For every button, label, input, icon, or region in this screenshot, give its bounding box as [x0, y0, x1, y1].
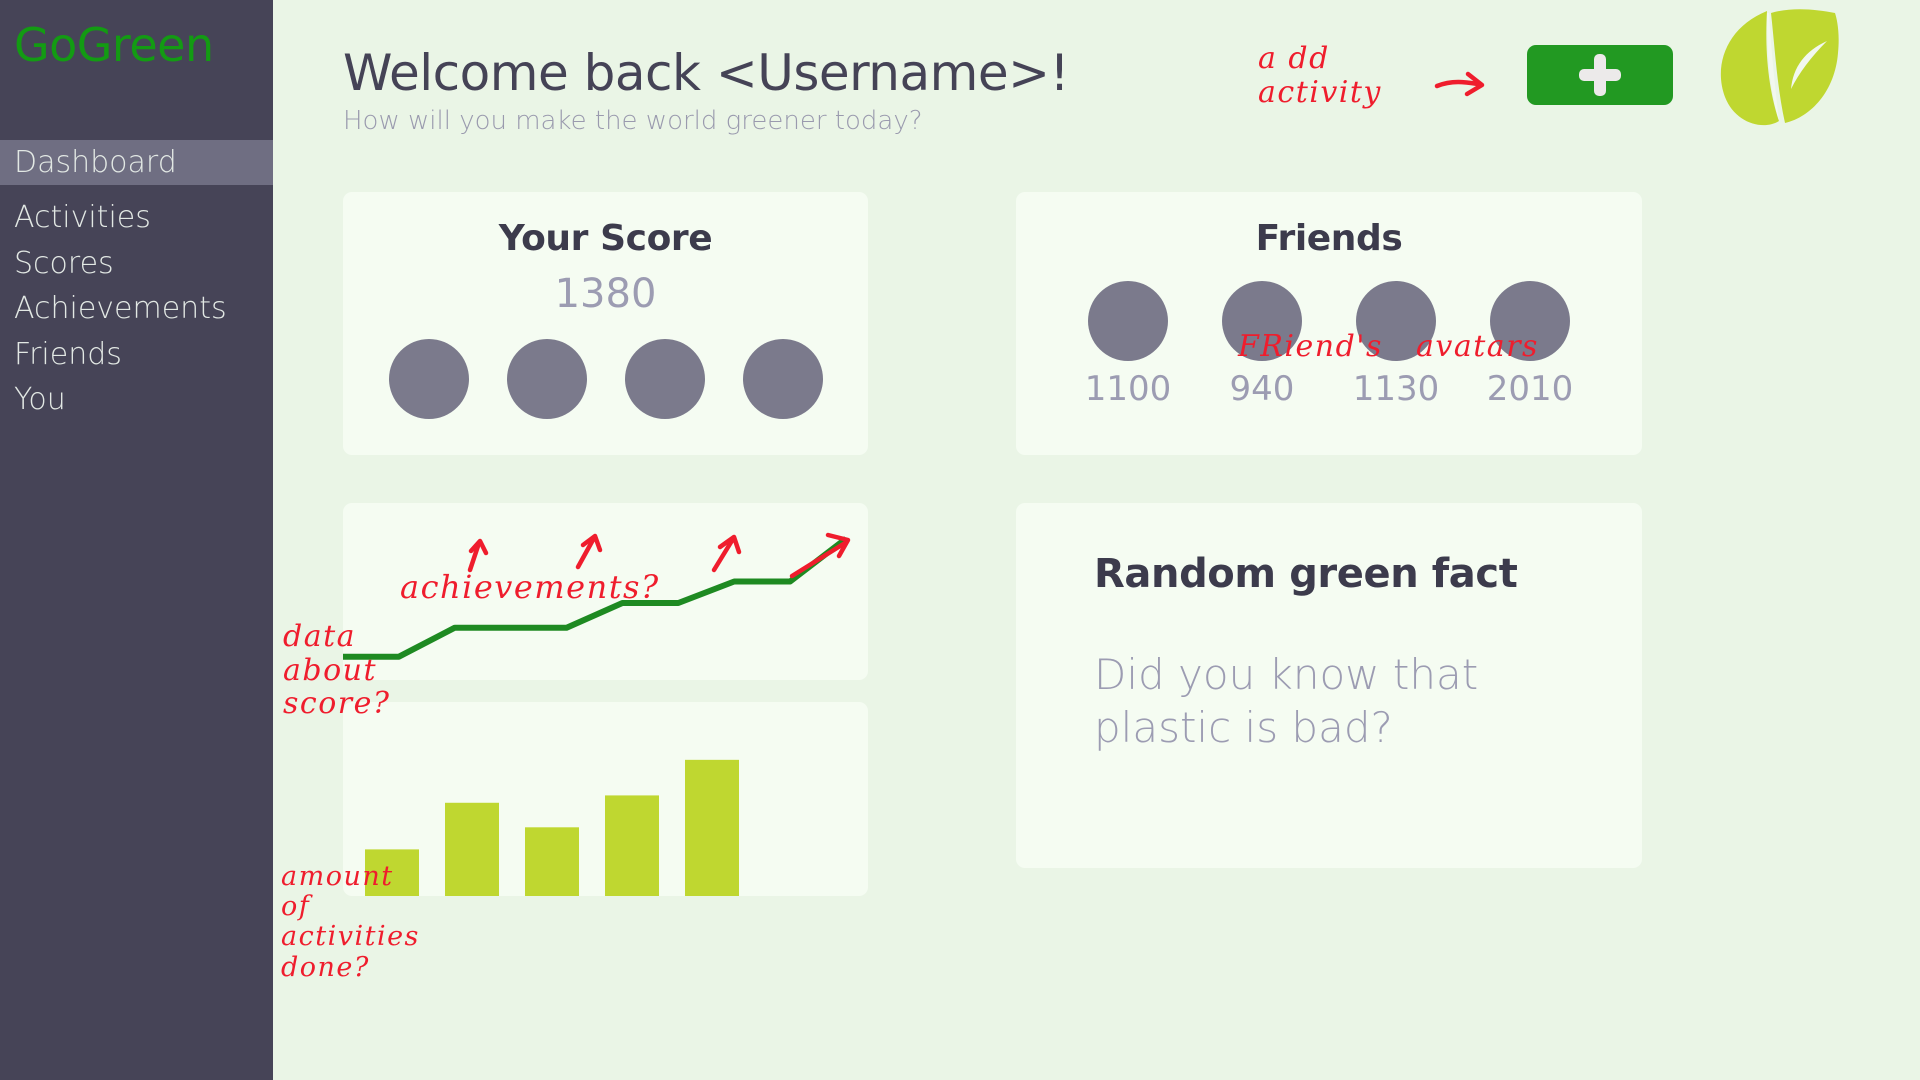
bar: [365, 849, 419, 896]
sidebar: GoGreen Dashboard Activities Scores Achi…: [0, 0, 273, 1080]
page-title: Welcome back <Username>!: [343, 44, 1069, 102]
sidebar-item-label: Scores: [14, 246, 114, 281]
sidebar-item-activities[interactable]: Activities: [0, 195, 273, 240]
sidebar-item-achievements[interactable]: Achievements: [0, 286, 273, 331]
bar: [525, 827, 579, 896]
friends-list: 1100 940 1130 2010: [1016, 281, 1642, 409]
activities-chart-card: [343, 702, 868, 896]
achievement-badges: [343, 339, 868, 419]
friend-score: 1130: [1349, 369, 1443, 409]
main-content: Welcome back <Username>! How will you ma…: [273, 0, 1920, 1080]
sidebar-item-you[interactable]: You: [0, 377, 273, 422]
friend-item[interactable]: 940: [1215, 281, 1309, 409]
friend-item[interactable]: 2010: [1483, 281, 1577, 409]
bar: [685, 760, 739, 896]
activities-bar-chart: [343, 702, 868, 896]
sidebar-item-friends[interactable]: Friends: [0, 332, 273, 377]
sidebar-item-label: Achievements: [14, 291, 227, 326]
score-trend-chart-card: [343, 503, 868, 680]
page-subtitle: How will you make the world greener toda…: [343, 106, 1069, 136]
friend-item[interactable]: 1130: [1349, 281, 1443, 409]
avatar: [1356, 281, 1436, 361]
score-trend-line-chart: [343, 503, 868, 680]
sidebar-item-label: Friends: [14, 337, 122, 372]
sidebar-item-label: Dashboard: [14, 145, 177, 180]
brand-logo-text[interactable]: GoGreen: [0, 0, 273, 68]
page-header: Welcome back <Username>! How will you ma…: [343, 44, 1069, 136]
sidebar-item-scores[interactable]: Scores: [0, 241, 273, 286]
nav-spacer: [0, 185, 273, 195]
sidebar-item-dashboard[interactable]: Dashboard: [0, 140, 273, 185]
friend-score: 1100: [1081, 369, 1175, 409]
green-fact-card: Random green fact Did you know that plas…: [1016, 503, 1642, 868]
friend-score: 940: [1215, 369, 1309, 409]
sidebar-item-label: Activities: [14, 200, 151, 235]
plus-icon: [1579, 54, 1621, 96]
score-card-title: Your Score: [343, 218, 868, 259]
achievement-badge[interactable]: [389, 339, 469, 419]
score-value: 1380: [343, 271, 868, 317]
friend-score: 2010: [1483, 369, 1577, 409]
achievement-badge[interactable]: [743, 339, 823, 419]
achievement-badge[interactable]: [507, 339, 587, 419]
friends-card-title: Friends: [1016, 218, 1642, 259]
add-activity-button[interactable]: [1527, 45, 1673, 105]
bar: [445, 803, 499, 896]
bar: [605, 795, 659, 896]
sidebar-item-label: You: [14, 382, 66, 417]
green-fact-title: Random green fact: [1016, 503, 1642, 597]
achievement-badge[interactable]: [625, 339, 705, 419]
score-card: Your Score 1380: [343, 192, 868, 455]
two-leaves-icon: [1705, 5, 1845, 130]
sidebar-nav: Dashboard Activities Scores Achievements…: [0, 140, 273, 422]
green-fact-body: Did you know that plastic is bad?: [1016, 597, 1642, 755]
avatar: [1222, 281, 1302, 361]
avatar: [1490, 281, 1570, 361]
friend-item[interactable]: 1100: [1081, 281, 1175, 409]
line-series: [343, 539, 846, 657]
friends-card: Friends 1100 940 1130 2010: [1016, 192, 1642, 455]
avatar: [1088, 281, 1168, 361]
